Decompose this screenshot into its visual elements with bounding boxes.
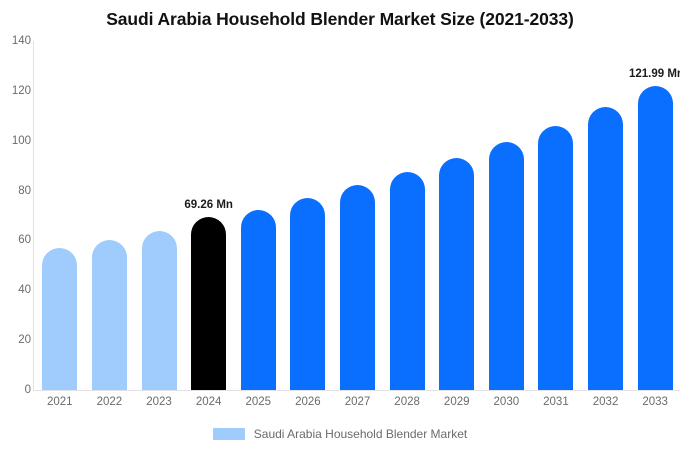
bar-2022[interactable] [92, 240, 127, 390]
x-axis-tick-2022: 2022 [85, 396, 135, 408]
x-axis-tick-2026: 2026 [283, 396, 333, 408]
bar-2028[interactable] [390, 172, 425, 390]
x-axis-tick-2027: 2027 [333, 396, 383, 408]
x-axis-tick-2030: 2030 [482, 396, 532, 408]
x-axis-tick-2031: 2031 [531, 396, 581, 408]
bar-2030[interactable] [489, 142, 524, 390]
x-axis-tick-2028: 2028 [382, 396, 432, 408]
x-axis-tick-2024: 2024 [184, 396, 234, 408]
x-axis-tick-2021: 2021 [35, 396, 85, 408]
x-axis-tick-2029: 2029 [432, 396, 482, 408]
bar-2032[interactable] [588, 107, 623, 390]
bars-container [0, 0, 680, 390]
x-axis-tick-2032: 2032 [581, 396, 631, 408]
bar-2026[interactable] [290, 198, 325, 390]
x-axis-tick-2023: 2023 [134, 396, 184, 408]
bar-2023[interactable] [142, 231, 177, 390]
legend-swatch-icon [213, 428, 245, 440]
x-axis-tick-2025: 2025 [233, 396, 283, 408]
bar-2033[interactable] [638, 86, 673, 390]
legend-item-label: Saudi Arabia Household Blender Market [254, 427, 467, 441]
chart-legend: Saudi Arabia Household Blender Market [0, 427, 680, 441]
x-axis-line [33, 390, 680, 391]
bar-2029[interactable] [439, 158, 474, 390]
data-label-2033: 121.99 Mr [627, 68, 680, 80]
bar-2031[interactable] [538, 126, 573, 390]
bar-chart: Saudi Arabia Household Blender Market Si… [0, 0, 680, 450]
x-axis-tick-2033: 2033 [630, 396, 680, 408]
bar-2021[interactable] [42, 248, 77, 390]
bar-2024[interactable] [191, 217, 226, 390]
bar-2027[interactable] [340, 185, 375, 390]
data-label-2024: 69.26 Mn [181, 199, 237, 211]
bar-2025[interactable] [241, 210, 276, 390]
